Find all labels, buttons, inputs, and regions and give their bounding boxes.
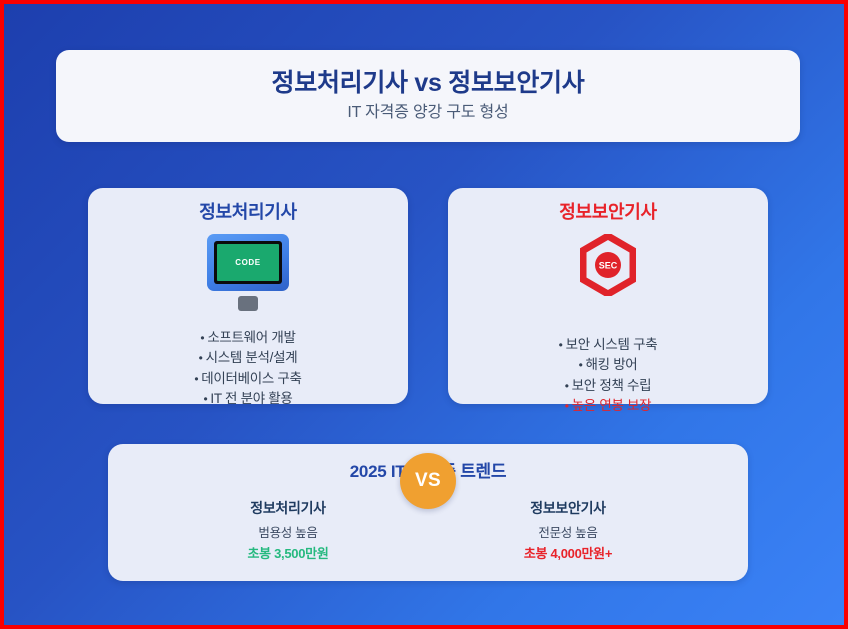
card-title-left: 정보처리기사 [88,202,408,224]
security-badge-label: SEC [599,260,618,270]
trend-column-info-processing: 정보처리기사 범용성 높음 초봉 3,500만원 [173,498,403,563]
trend-column-name: 정보처리기사 [173,498,403,518]
security-hexagon-icon: SEC [580,234,636,296]
header-card: 정보처리기사 vs 정보보안기사 IT 자격증 양강 구도 형성 [56,50,800,142]
trend-column-salary: 초봉 3,500만원 [173,545,403,564]
monitor-bezel: CODE [214,241,282,284]
list-item: 보안 정책 수립 [448,376,768,397]
card-title-right: 정보보안기사 [448,202,768,224]
monitor-screen-label: CODE [235,258,261,267]
left-bullet-list: 소프트웨어 개발 시스템 분석/설계 데이터베이스 구축 IT 전 분야 활용 [88,328,408,410]
list-item: 소프트웨어 개발 [88,328,408,349]
left-icon-slot: CODE [88,234,408,326]
page-title: 정보처리기사 vs 정보보안기사 [272,69,585,98]
vs-badge: VS [400,453,456,509]
vs-badge-label: VS [415,470,441,492]
monitor-stand-icon [238,296,258,311]
page-subtitle: IT 자격증 양강 구도 형성 [347,104,508,122]
card-engineer-info-processing[interactable]: 정보처리기사 CODE 소프트웨어 개발 시스템 분석/설계 데이터베이스 구축… [88,188,408,404]
card-engineer-info-security[interactable]: 정보보안기사 SEC 보안 시스템 구축 해킹 방어 보안 정책 수립 높은 연… [448,188,768,404]
trend-column-trait: 범용성 높음 [173,524,403,542]
list-item: 시스템 분석/설계 [88,348,408,369]
trend-column-trait: 전문성 높음 [453,524,683,542]
list-item-highlight: 높은 연봉 보장 [448,396,768,417]
right-bullet-list: 보안 시스템 구축 해킹 방어 보안 정책 수립 높은 연봉 보장 [448,335,768,417]
trend-column-salary: 초봉 4,000만원+ [453,545,683,564]
list-item: 데이터베이스 구축 [88,369,408,390]
list-item: 해킹 방어 [448,355,768,376]
list-item: IT 전 분야 활용 [88,389,408,410]
trend-column-info-security: 정보보안기사 전문성 높음 초봉 4,000만원+ [453,498,683,563]
infographic-canvas: 정보처리기사 vs 정보보안기사 IT 자격증 양강 구도 형성 정보처리기사 … [0,0,848,629]
monitor-screen: CODE [217,244,279,281]
monitor-code-icon: CODE [207,234,289,291]
list-item: 보안 시스템 구축 [448,335,768,356]
right-icon-slot: SEC [448,234,768,326]
trend-column-name: 정보보안기사 [453,498,683,518]
comparison-row: 정보처리기사 CODE 소프트웨어 개발 시스템 분석/설계 데이터베이스 구축… [4,188,848,404]
